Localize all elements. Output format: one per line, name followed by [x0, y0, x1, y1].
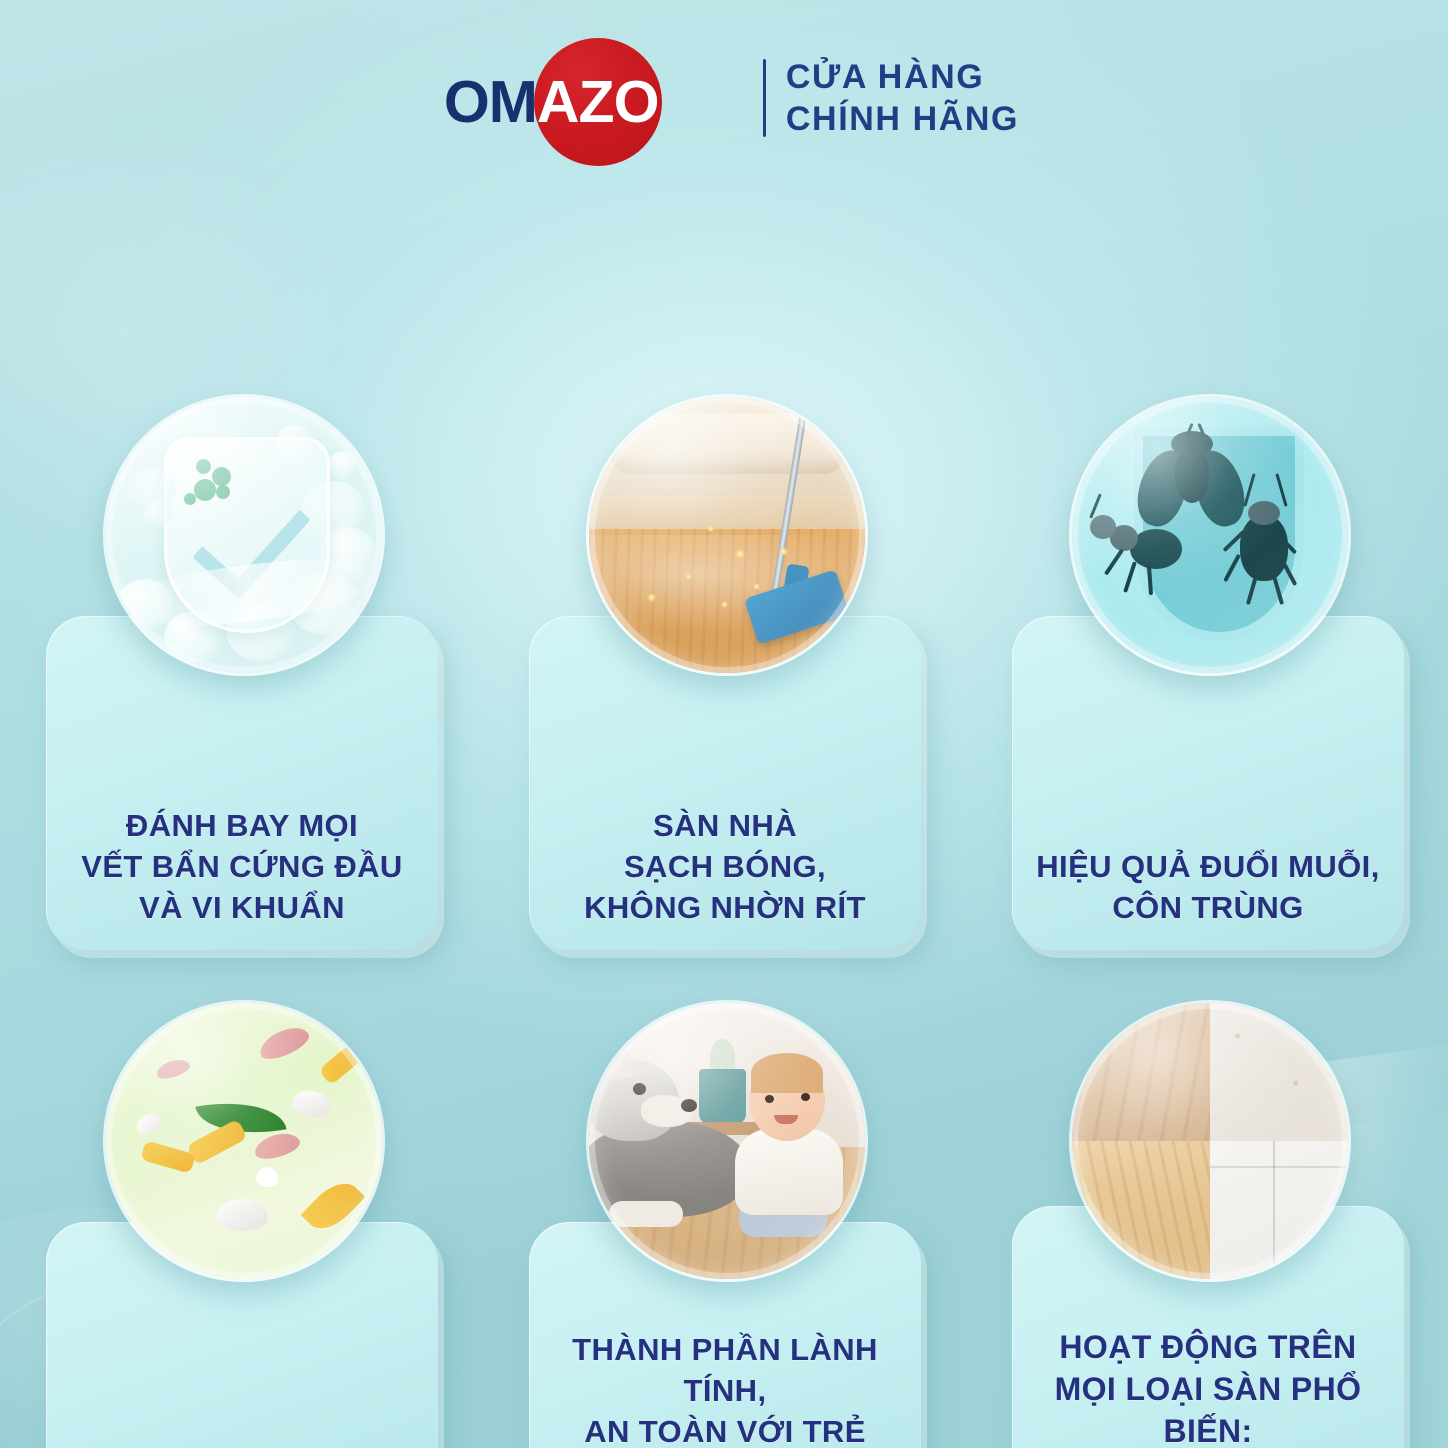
logo-lockup: OMAZO OMAZO CỬA HÀNG CHÍNH HÃNG	[429, 28, 1019, 168]
caption-line: CÔN TRÙNG	[1024, 887, 1392, 928]
feature-card-repel-insects[interactable]: HIỆU QUẢ ĐUỔI MUỖI, CÔN TRÙNG	[966, 394, 1448, 1004]
card-caption: ĐÁNH BAY MỌI VẾT BẨN CỨNG ĐẦU VÀ VI KHUẨ…	[46, 805, 438, 950]
card-caption: SÀN NHÀ SẠCH BÓNG, KHÔNG NHỜN RÍT	[529, 805, 921, 950]
feature-card-deep-clean[interactable]: ĐÁNH BAY MỌI VẾT BẨN CỨNG ĐẦU VÀ VI KHUẨ…	[0, 394, 482, 1004]
caption-line: HIỆU QUẢ ĐUỔI MUỖI,	[1024, 846, 1392, 887]
bubble-artwork	[589, 1003, 865, 1279]
caption-line: SẠCH BÓNG,	[541, 846, 909, 887]
bubble-artwork	[589, 397, 865, 673]
mop-wooden-floor-icon	[586, 394, 868, 676]
caption-line: HOẠT ĐỘNG TRÊN	[1024, 1326, 1392, 1368]
bubble-artwork	[1072, 397, 1348, 673]
feature-card-safe-ingredients[interactable]: THÀNH PHẦN LÀNH TÍNH, AN TOÀN VỚI TRẺ NH…	[483, 1000, 965, 1448]
bubble-artwork	[106, 397, 382, 673]
caption-line: KHÔNG NHỜN RÍT	[541, 887, 909, 928]
tagline-line-2: CHÍNH HÃNG	[786, 98, 1019, 140]
caption-line: ĐÁNH BAY MỌI	[58, 805, 426, 846]
four-floor-types-icon	[1069, 1000, 1351, 1282]
omazo-logo: OMAZO OMAZO	[429, 28, 759, 168]
brand-tagline: CỬA HÀNG CHÍNH HÃNG	[786, 56, 1019, 140]
bubble-artwork	[106, 1003, 382, 1279]
caption-line: AN TOÀN VỚI TRẺ NHỎ,	[541, 1411, 909, 1448]
logo-divider	[763, 59, 766, 137]
brand-header: OMAZO OMAZO CỬA HÀNG CHÍNH HÃNG	[0, 28, 1448, 168]
bubble-artwork	[1072, 1003, 1348, 1279]
feature-card-fragrance[interactable]: LƯU HƯƠNG THƯ GIÃN DỄ CHỊU	[0, 1000, 482, 1448]
promo-poster: OMAZO OMAZO CỬA HÀNG CHÍNH HÃNG ĐÁNH BAY…	[0, 0, 1448, 1448]
caption-line: VẾT BẨN CỨNG ĐẦU	[58, 846, 426, 887]
feature-card-all-floor-types[interactable]: HOẠT ĐỘNG TRÊN MỌI LOẠI SÀN PHỔ BIẾN: SÀ…	[966, 1000, 1448, 1448]
card-caption: HIỆU QUẢ ĐUỔI MUỖI, CÔN TRÙNG	[1012, 846, 1404, 950]
caption-line: MỌI LOẠI SÀN PHỔ BIẾN:	[1024, 1368, 1392, 1448]
feature-grid: ĐÁNH BAY MỌI VẾT BẨN CỨNG ĐẦU VÀ VI KHUẨ…	[0, 172, 1448, 1448]
insect-shield-icon	[1069, 394, 1351, 676]
caption-line: THÀNH PHẦN LÀNH TÍNH,	[541, 1329, 909, 1411]
card-caption: THÀNH PHẦN LÀNH TÍNH, AN TOÀN VỚI TRẺ NH…	[529, 1329, 921, 1448]
baby-and-dog-icon	[586, 1000, 868, 1282]
feature-card-shiny-floor[interactable]: SÀN NHÀ SẠCH BÓNG, KHÔNG NHỜN RÍT	[483, 394, 965, 1004]
tagline-line-1: CỬA HÀNG	[786, 56, 1019, 98]
caption-line: SÀN NHÀ	[541, 805, 909, 846]
caption-line: VÀ VI KHUẨN	[58, 887, 426, 928]
card-caption: HOẠT ĐỘNG TRÊN MỌI LOẠI SÀN PHỔ BIẾN: SÀ…	[1012, 1326, 1404, 1448]
leaf-fragrance-icon	[103, 1000, 385, 1282]
shield-check-foam-icon	[103, 394, 385, 676]
